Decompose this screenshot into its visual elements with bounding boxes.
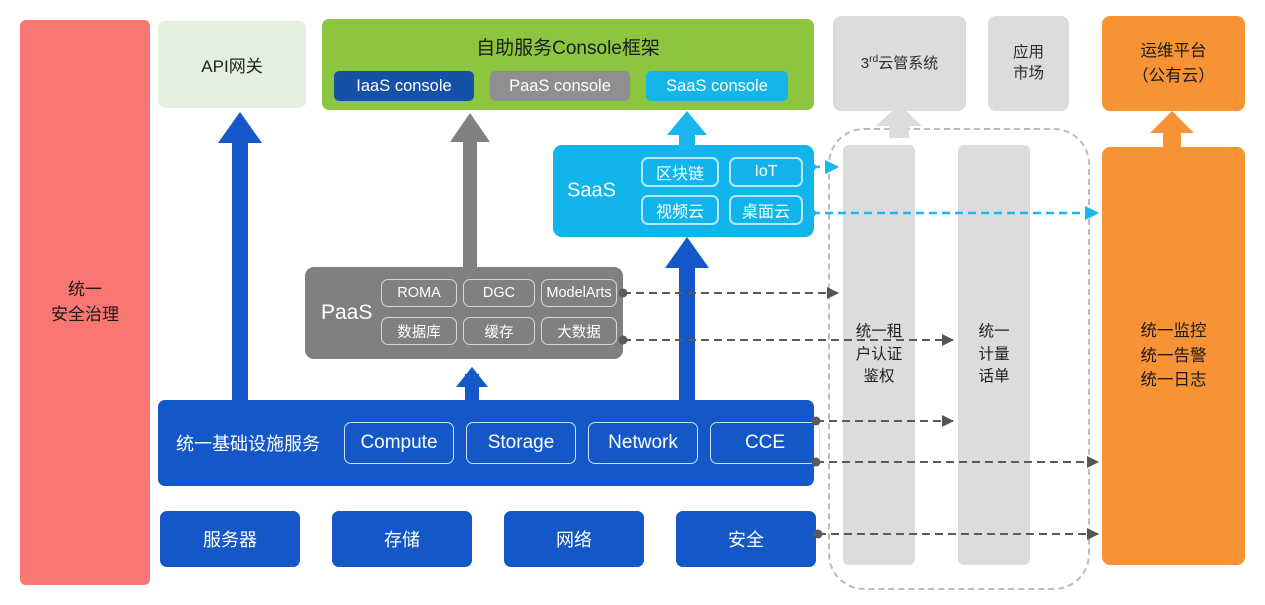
- ops-panel-line-1: 统一监控: [1141, 319, 1207, 344]
- paas-item-modelarts-label: ModelArts: [546, 285, 611, 301]
- paas-item-roma[interactable]: ROMA: [381, 279, 457, 307]
- console-frame-title: 自助服务Console框架: [322, 33, 814, 60]
- infra-item-cce[interactable]: CCE: [710, 422, 820, 464]
- saas-item-iot[interactable]: IoT: [729, 157, 803, 187]
- unified-monitoring-panel: 统一监控 统一告警 统一日志: [1102, 147, 1245, 565]
- infra-item-storage-label: Storage: [488, 432, 555, 454]
- governance-line-2: 安全治理: [51, 303, 119, 328]
- saas-item-video-cloud[interactable]: 视频云: [641, 195, 719, 225]
- resource-box-network-label: 网络: [556, 526, 592, 552]
- governance-line-1: 统一: [68, 278, 102, 303]
- resource-box-security[interactable]: 安全: [676, 511, 816, 567]
- arrow-paas-to-console: [450, 113, 490, 268]
- paas-layer-label: PaaS: [321, 301, 372, 325]
- resource-box-storage-label: 存储: [384, 526, 420, 552]
- paas-item-roma-label: ROMA: [397, 285, 441, 301]
- third-party-suffix: 云管系统: [878, 55, 938, 72]
- infra-item-compute-label: Compute: [360, 432, 437, 454]
- unified-security-governance-panel: 统一 安全治理: [20, 20, 150, 585]
- infra-item-network[interactable]: Network: [588, 422, 698, 464]
- third-party-label: 3rd云管系统: [861, 53, 938, 74]
- ops-platform-line-2: （公有云）: [1132, 64, 1215, 89]
- third-party-prefix: 3: [861, 55, 869, 72]
- arrow-infra-to-paas: [456, 367, 488, 402]
- infra-item-cce-label: CCE: [745, 432, 785, 454]
- paas-item-database-label: 数据库: [397, 321, 441, 342]
- metering-line-2: 计量: [978, 344, 1009, 366]
- self-service-console-frame: 自助服务Console框架 IaaS console PaaS console …: [322, 19, 814, 110]
- saas-item-video-cloud-label: 视频云: [656, 198, 704, 222]
- app-market-box: 应用 市场: [988, 16, 1069, 111]
- resource-box-security-label: 安全: [728, 526, 764, 552]
- arrow-infra-to-api-gateway: [218, 112, 262, 402]
- tenant-auth-line-3: 鉴权: [863, 366, 894, 388]
- api-gateway-box[interactable]: API网关: [158, 21, 306, 108]
- app-market-line-2: 市场: [1013, 64, 1044, 84]
- saas-item-desktop-cloud[interactable]: 桌面云: [729, 195, 803, 225]
- third-party-sup: rd: [869, 54, 878, 65]
- metering-line-1: 统一: [978, 321, 1009, 343]
- chip-iaas-console[interactable]: IaaS console: [334, 71, 474, 101]
- unified-infrastructure-service-bar: 统一基础设施服务 Compute Storage Network CCE: [158, 400, 814, 486]
- saas-layer-box: SaaS 区块链 IoT 视频云 桌面云: [553, 145, 814, 237]
- infra-item-compute[interactable]: Compute: [344, 422, 454, 464]
- metering-line-3: 话单: [978, 366, 1009, 388]
- paas-item-modelarts[interactable]: ModelArts: [541, 279, 617, 307]
- unified-tenant-auth-column: 统一租 户认证 鉴权: [843, 145, 915, 565]
- chip-saas-console-label: SaaS console: [666, 77, 768, 96]
- paas-item-dgc-label: DGC: [483, 285, 515, 301]
- paas-layer-box: PaaS ROMA DGC ModelArts 数据库 缓存 大数据: [305, 267, 623, 359]
- infra-item-storage[interactable]: Storage: [466, 422, 576, 464]
- chip-paas-console[interactable]: PaaS console: [490, 71, 630, 101]
- resource-box-server-label: 服务器: [203, 526, 257, 552]
- paas-item-database[interactable]: 数据库: [381, 317, 457, 345]
- ops-platform-line-1: 运维平台: [1141, 39, 1207, 64]
- arrow-ops-panel-to-ops-platform: [1150, 111, 1194, 149]
- tenant-auth-line-1: 统一租: [856, 321, 903, 343]
- chip-saas-console[interactable]: SaaS console: [646, 71, 788, 101]
- ops-platform-public-cloud-box: 运维平台 （公有云）: [1102, 16, 1245, 111]
- saas-layer-label: SaaS: [567, 180, 616, 203]
- tenant-auth-line-2: 户认证: [856, 344, 903, 366]
- paas-item-dgc[interactable]: DGC: [463, 279, 535, 307]
- app-market-line-1: 应用: [1013, 43, 1044, 63]
- chip-iaas-console-label: IaaS console: [356, 77, 451, 96]
- resource-box-network[interactable]: 网络: [504, 511, 644, 567]
- paas-item-cache[interactable]: 缓存: [463, 317, 535, 345]
- ops-panel-line-2: 统一告警: [1141, 344, 1207, 369]
- paas-item-cache-label: 缓存: [485, 321, 514, 342]
- saas-item-blockchain[interactable]: 区块链: [641, 157, 719, 187]
- ops-panel-line-3: 统一日志: [1141, 368, 1207, 393]
- api-gateway-label: API网关: [201, 52, 262, 77]
- unified-metering-billing-column: 统一 计量 话单: [958, 145, 1030, 565]
- infra-item-network-label: Network: [608, 432, 678, 454]
- saas-item-iot-label: IoT: [754, 163, 777, 181]
- dashed-paas-to-tenant-auth: [619, 289, 839, 298]
- paas-item-bigdata-label: 大数据: [557, 321, 601, 342]
- unified-infrastructure-label: 统一基础设施服务: [176, 430, 320, 456]
- third-party-cloud-management-box: 3rd云管系统: [833, 16, 966, 111]
- architecture-diagram: 统一 安全治理 API网关 自助服务Console框架 IaaS console…: [0, 0, 1265, 605]
- arrow-infra-to-saas: [665, 237, 709, 402]
- chip-paas-console-label: PaaS console: [509, 77, 611, 96]
- resource-box-storage[interactable]: 存储: [332, 511, 472, 567]
- resource-box-server[interactable]: 服务器: [160, 511, 300, 567]
- saas-item-blockchain-label: 区块链: [656, 160, 704, 184]
- paas-item-bigdata[interactable]: 大数据: [541, 317, 617, 345]
- saas-item-desktop-cloud-label: 桌面云: [742, 198, 790, 222]
